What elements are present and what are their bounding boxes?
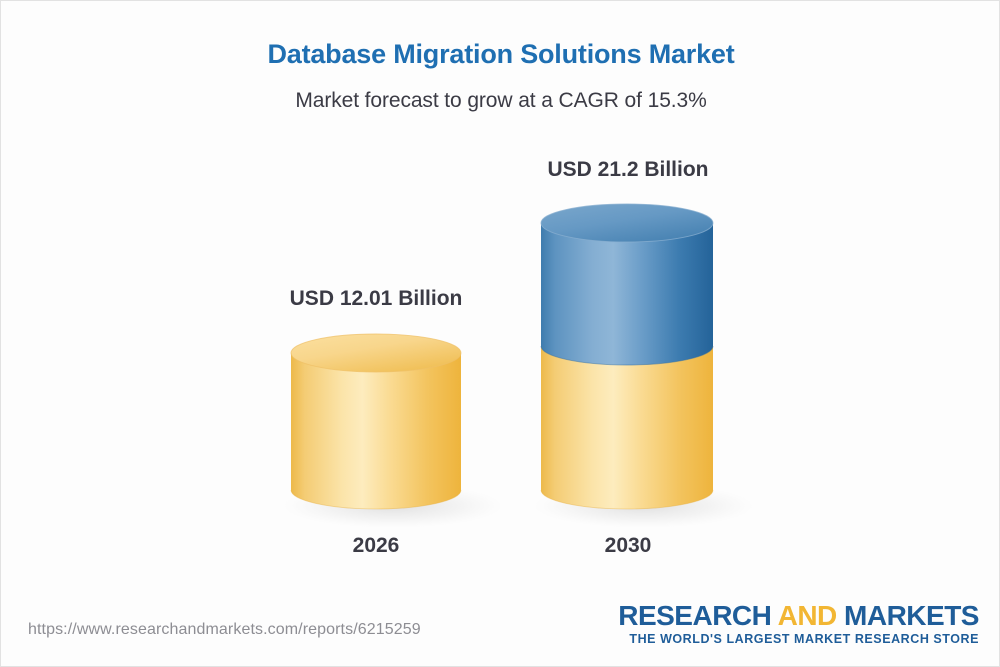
brand-word-markets: MARKETS: [837, 600, 979, 631]
bar-2026-value-label: USD 12.01 Billion: [251, 287, 501, 311]
brand-logo[interactable]: RESEARCH AND MARKETS THE WORLD'S LARGEST…: [618, 601, 979, 647]
chart-plot-area: USD 12.01 Billion USD 21.2 Billion 2026 …: [1, 1, 1000, 601]
bar-2026-category-label: 2026: [251, 534, 501, 558]
brand-wordmark: RESEARCH AND MARKETS: [618, 601, 979, 630]
bar-2026-cylinder: [291, 334, 461, 509]
brand-word-research: RESEARCH: [618, 600, 777, 631]
brand-word-and: AND: [778, 600, 837, 631]
brand-tagline: THE WORLD'S LARGEST MARKET RESEARCH STOR…: [618, 632, 979, 647]
bar-2030-base-segment: [541, 346, 713, 509]
bar-2026-body: [291, 353, 461, 509]
bar-2030-category-label: 2030: [503, 534, 753, 558]
chart-card: Database Migration Solutions Market Mark…: [0, 0, 1000, 667]
bar-2030-growth-segment: [541, 223, 713, 365]
source-url[interactable]: https://www.researchandmarkets.com/repor…: [28, 621, 421, 639]
bar-2030-cylinder: [541, 204, 713, 509]
bar-2030-value-label: USD 21.2 Billion: [503, 158, 753, 182]
